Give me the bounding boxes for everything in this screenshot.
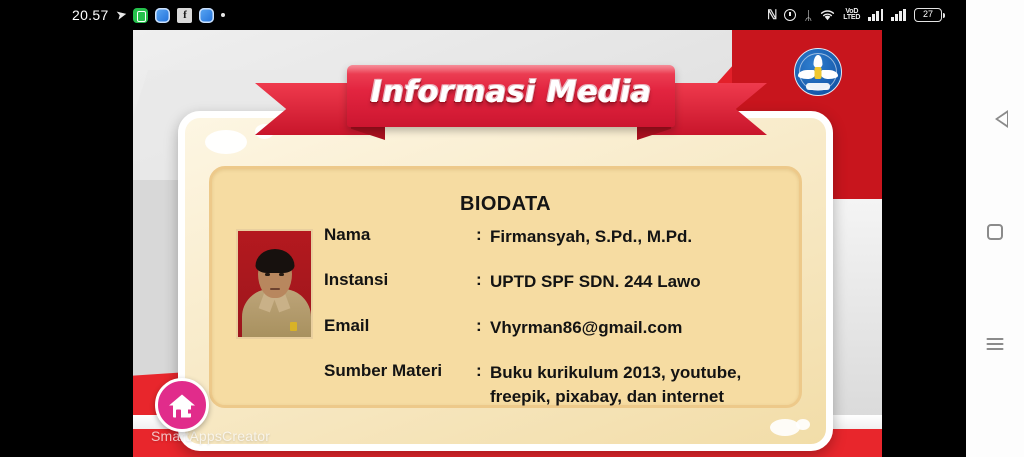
more-notifications-dot (221, 13, 225, 17)
biodata-inner-panel: BIODATA Nama : (209, 166, 802, 408)
table-row: Email : Vhyrman86@gmail.com (324, 316, 787, 339)
messenger-app-icon (155, 8, 170, 23)
field-value-nama: Firmansyah, S.Pd., M.Pd. (490, 225, 692, 248)
field-colon: : (476, 361, 490, 408)
biodata-field-list: Nama : Firmansyah, S.Pd., M.Pd. Instansi… (324, 225, 787, 430)
alarm-icon (784, 9, 796, 21)
battery-indicator: 27 (914, 8, 942, 22)
table-row: Instansi : UPTD SPF SDN. 244 Lawo (324, 270, 787, 293)
field-label-email: Email (324, 316, 476, 339)
field-value-sumber-materi: Buku kurikulum 2013, youtube, freepik, p… (490, 361, 741, 408)
bluetooth-icon: ᛦ (804, 9, 812, 22)
messenger-app-icon-2 (199, 8, 214, 23)
profile-photo (236, 229, 313, 339)
field-colon: : (476, 270, 490, 293)
signal-bars-icon-2 (891, 9, 906, 21)
volte-icon: VoD LTED (843, 9, 860, 21)
field-value-instansi: UPTD SPF SDN. 244 Lawo (490, 270, 701, 293)
ribbon-banner: Informasi Media (255, 55, 767, 155)
status-bar-left: 20.57 ➤ f (72, 0, 225, 30)
signal-bars-icon (868, 9, 883, 21)
field-colon: : (476, 225, 490, 248)
table-row: Sumber Materi : Buku kurikulum 2013, you… (324, 361, 787, 408)
phone-screen: 20.57 ➤ f ℕ ᛦ VoD LTED 27 (0, 0, 1024, 457)
decorative-bubble (205, 130, 247, 154)
slide-title: Informasi Media (255, 75, 767, 110)
status-bar-clock: 20.57 (72, 7, 109, 23)
biodata-heading: BIODATA (212, 193, 799, 216)
decorative-bubble (796, 419, 810, 430)
nfc-icon: ℕ (767, 7, 776, 23)
field-label-sumber-materi: Sumber Materi (324, 361, 476, 408)
home-icon-button[interactable] (155, 378, 209, 432)
tut-wuri-handayani-logo (794, 48, 842, 96)
telegram-icon: ➤ (114, 6, 128, 24)
field-colon: : (476, 316, 490, 339)
watermark-label: SmartAppsCreator (151, 428, 270, 444)
field-label-nama: Nama (324, 225, 476, 248)
status-bar: 20.57 ➤ f ℕ ᛦ VoD LTED 27 (0, 0, 966, 30)
android-navigation-bar (966, 0, 1024, 457)
facebook-icon: f (177, 8, 192, 23)
status-bar-right: ℕ ᛦ VoD LTED 27 (767, 0, 942, 30)
recents-button[interactable] (987, 338, 1004, 350)
whatsapp-business-icon (133, 8, 148, 23)
home-button[interactable] (987, 224, 1003, 240)
field-label-instansi: Instansi (324, 270, 476, 293)
wifi-icon (820, 9, 835, 21)
table-row: Nama : Firmansyah, S.Pd., M.Pd. (324, 225, 787, 248)
house-icon (169, 394, 195, 417)
field-value-email: Vhyrman86@gmail.com (490, 316, 682, 339)
biodata-card: BIODATA Nama : (178, 111, 833, 451)
presentation-slide[interactable]: BIODATA Nama : (133, 30, 882, 457)
